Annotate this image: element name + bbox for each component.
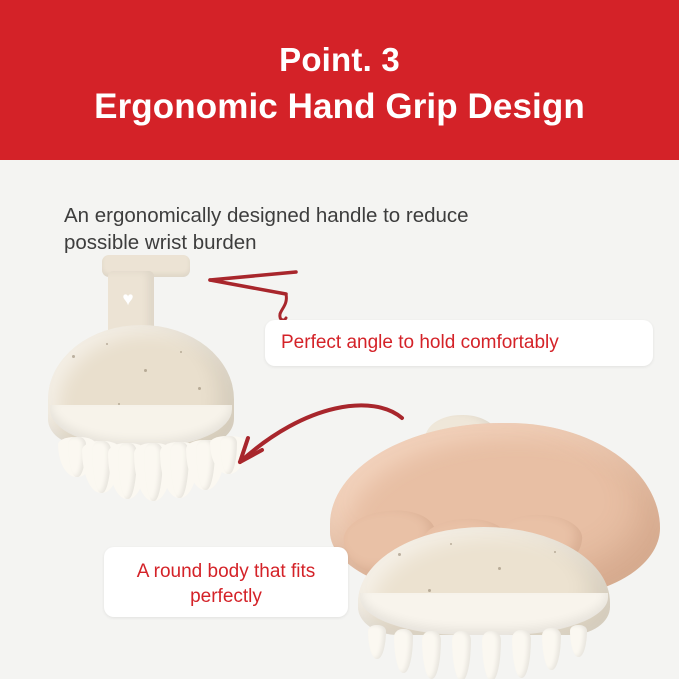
speck xyxy=(398,553,401,556)
header-band: Point. 3 Ergonomic Hand Grip Design xyxy=(0,0,679,160)
speck xyxy=(498,567,501,570)
speck xyxy=(180,351,182,353)
bristle xyxy=(482,631,501,679)
brush-bristles xyxy=(56,431,228,501)
speck xyxy=(198,387,201,390)
speck xyxy=(106,343,108,345)
body-area: An ergonomically designed handle to redu… xyxy=(0,160,679,679)
point-label: Point. 3 xyxy=(279,42,400,78)
bristle xyxy=(512,630,531,678)
product-brush-in-hand xyxy=(330,415,679,679)
speck xyxy=(450,543,452,545)
speck xyxy=(144,369,147,372)
bristle xyxy=(368,625,386,659)
speck xyxy=(554,551,556,553)
bristle xyxy=(452,631,471,679)
product-brush-standing: ♥ xyxy=(30,255,250,520)
speck xyxy=(428,589,431,592)
brush-bristles-2 xyxy=(368,617,600,679)
speck xyxy=(72,355,75,358)
bristle xyxy=(422,631,441,679)
bristle xyxy=(542,628,561,670)
promo-image: Point. 3 Ergonomic Hand Grip Design An e… xyxy=(0,0,679,679)
angle-callout: Perfect angle to hold comfortably xyxy=(265,320,653,366)
round-body-callout: A round body that fits perfectly xyxy=(104,547,348,617)
page-title: Ergonomic Hand Grip Design xyxy=(94,88,585,127)
bristle xyxy=(570,625,587,657)
lead-description: An ergonomically designed handle to redu… xyxy=(64,202,484,256)
heart-icon: ♥ xyxy=(118,291,138,309)
bristle xyxy=(394,629,413,673)
